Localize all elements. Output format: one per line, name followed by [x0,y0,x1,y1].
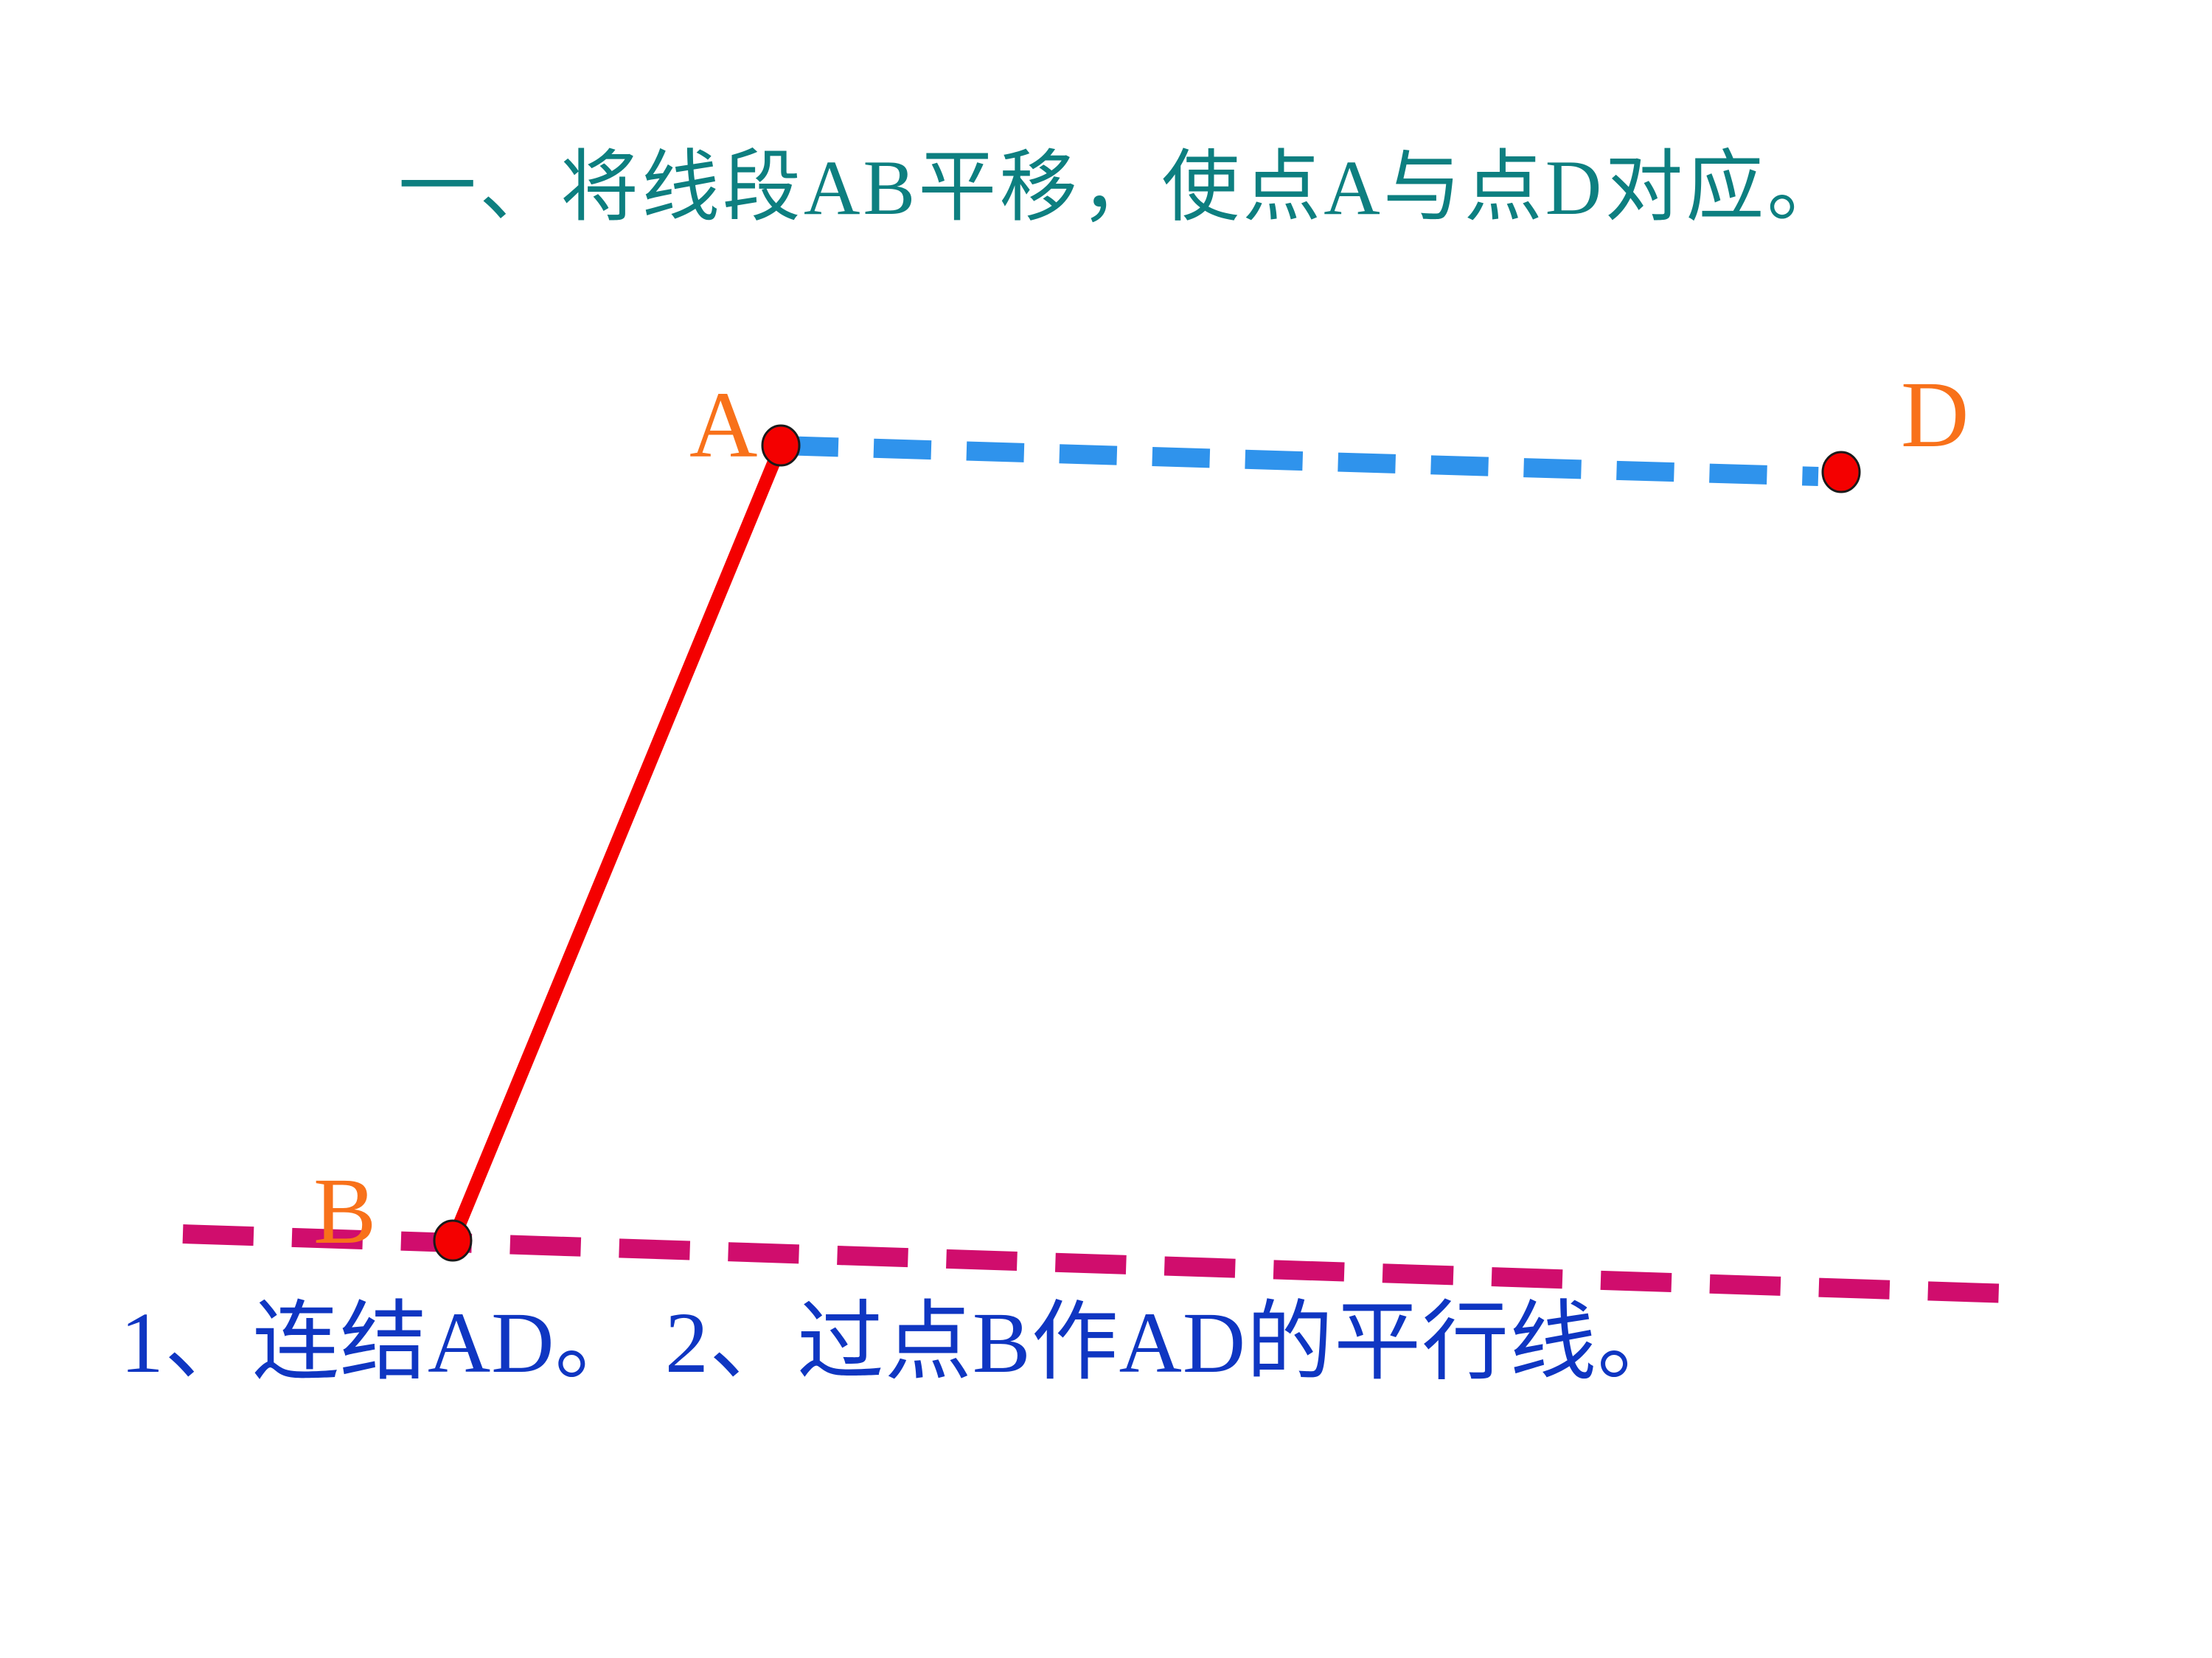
point-label-d: D [1901,367,1969,462]
point-A-dot [762,426,799,465]
slide-canvas: 一、将线段AB平移，使点A与点D对应。 A B D 1、连结AD。 2、过点B作… [0,0,2212,1658]
point-label-a: A [689,378,757,472]
line-AD [781,445,1818,476]
page-title: 一、将线段AB平移，使点A与点D对应。 [398,149,1848,227]
point-B-dot [434,1221,471,1260]
point-label-b: B [313,1164,376,1258]
geometry-figure [0,0,2212,1658]
segment-AB [453,445,781,1241]
point-D-dot [1823,452,1860,492]
steps-instruction: 1、连结AD。 2、过点B作AD的平行线。 [120,1300,1685,1387]
